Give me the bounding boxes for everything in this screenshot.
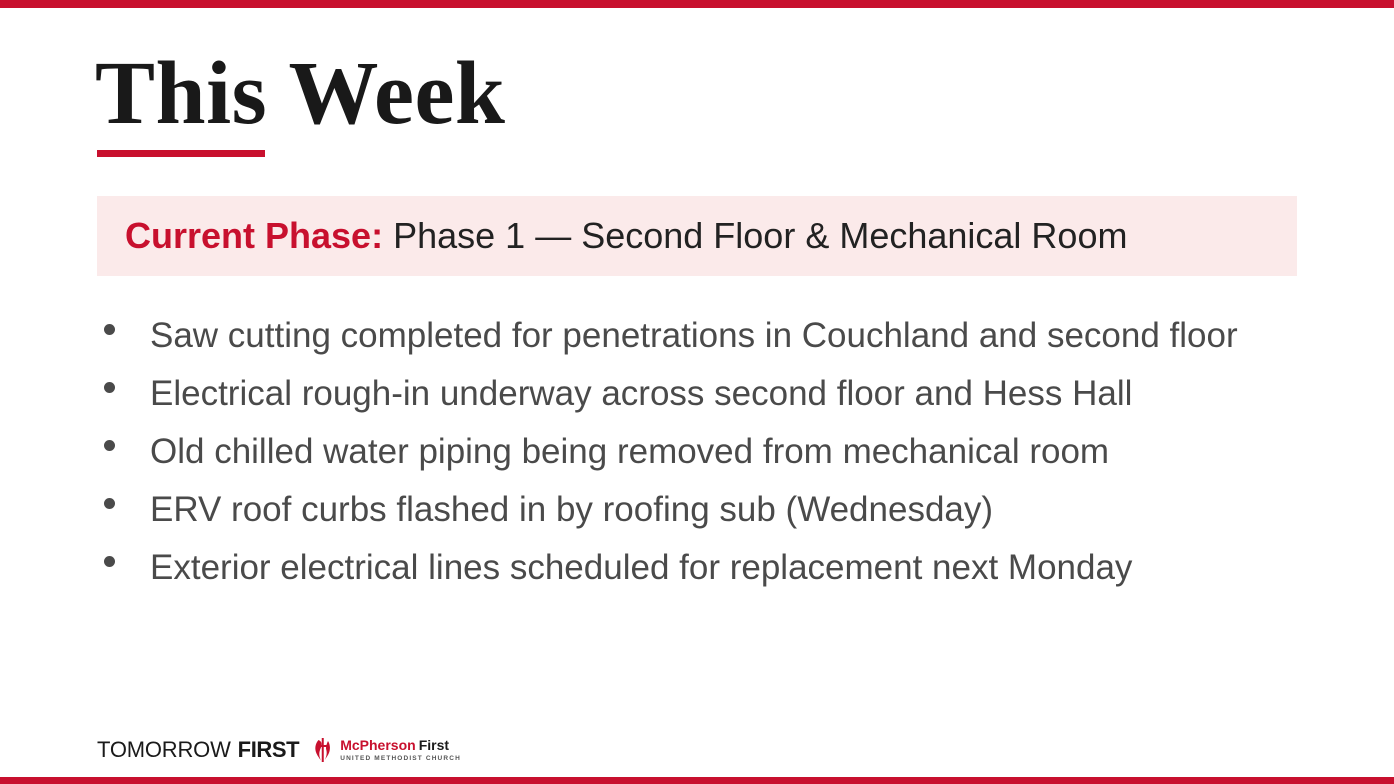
bullet-dot-icon [104,426,150,451]
umc-wordmark: McPhersonFirst UNITED METHODIST CHURCH [340,738,461,763]
title-underline-rule [97,150,265,157]
footer-logo-lockup: TOMORROW FIRST McPhersonFirst UNITED MET… [97,735,461,765]
page-title: This Week [95,44,505,144]
umc-name-first: First [419,737,449,753]
tomorrow-first-wordmark: TOMORROW FIRST [97,738,299,762]
bullet-dot-icon [104,310,150,335]
list-item: ERV roof curbs flashed in by roofing sub… [104,484,1334,542]
this-week-bullet-list: Saw cutting completed for penetrations i… [104,310,1334,600]
bottom-accent-bar [0,777,1394,784]
umc-name-mcpherson: McPherson [340,737,415,753]
bullet-dot-icon [104,542,150,567]
bullet-dot-icon [104,368,150,393]
top-accent-bar [0,0,1394,8]
list-item-label: Old chilled water piping being removed f… [150,426,1109,478]
umc-denomination-line: UNITED METHODIST CHURCH [340,754,461,763]
current-phase-banner: Current Phase: Phase 1 — Second Floor & … [97,196,1297,276]
current-phase-label: Current Phase: [125,215,383,256]
list-item: Saw cutting completed for penetrations i… [104,310,1334,368]
current-phase-text: Current Phase: Phase 1 — Second Floor & … [97,214,1127,258]
mcpherson-first-umc-logo: McPhersonFirst UNITED METHODIST CHURCH [314,737,461,763]
list-item: Electrical rough-in underway across seco… [104,368,1334,426]
list-item-label: Electrical rough-in underway across seco… [150,368,1132,420]
bullet-dot-icon [104,484,150,509]
list-item-label: Exterior electrical lines scheduled for … [150,542,1132,594]
list-item-label: Saw cutting completed for penetrations i… [150,310,1238,362]
list-item-label: ERV roof curbs flashed in by roofing sub… [150,484,993,536]
wordmark-first: FIRST [238,738,300,762]
slide-canvas: This Week Current Phase: Phase 1 — Secon… [0,0,1394,784]
wordmark-tomorrow: TOMORROW [97,738,231,762]
list-item: Old chilled water piping being removed f… [104,426,1334,484]
cross-and-flame-icon [314,737,335,763]
umc-name-line: McPhersonFirst [340,738,461,753]
list-item: Exterior electrical lines scheduled for … [104,542,1334,600]
current-phase-value: Phase 1 — Second Floor & Mechanical Room [393,215,1127,256]
